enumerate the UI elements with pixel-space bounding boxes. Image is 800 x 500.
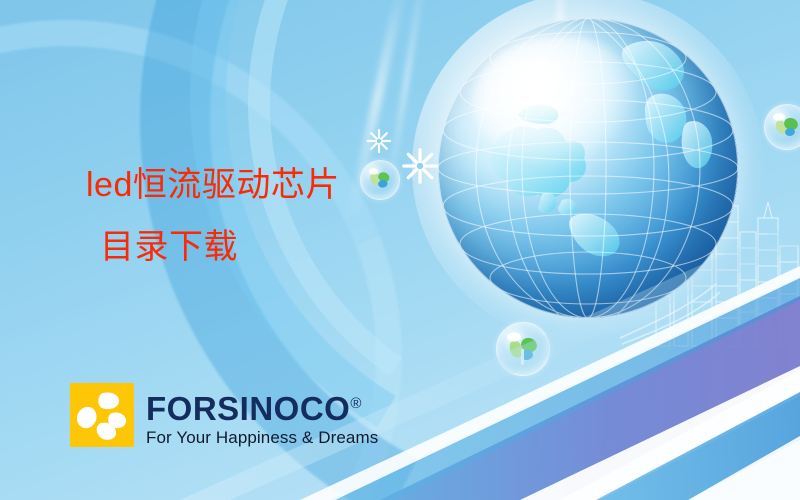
logo-text-block: FORSINOCO® For Your Happiness & Dreams xyxy=(146,383,378,448)
registered-trademark-icon: ® xyxy=(350,395,361,412)
company-logo: FORSINOCO® For Your Happiness & Dreams xyxy=(70,383,378,448)
wordmark-text: FORSINOCO xyxy=(146,390,350,427)
bubble-pinwheel-right-edge xyxy=(764,104,800,150)
four-petal-pinwheel-icon xyxy=(70,383,134,447)
promo-banner: led恒流驱动芯片 目录下载 FORSINOCO® For Your Happi… xyxy=(0,0,800,500)
starburst-small xyxy=(366,128,392,154)
logo-tagline: For Your Happiness & Dreams xyxy=(146,428,378,448)
headline-line-2: 目录下载 xyxy=(86,225,426,269)
logo-wordmark: FORSINOCO® xyxy=(146,387,378,426)
headline-line-1: led恒流驱动芯片 xyxy=(86,163,426,207)
headline: led恒流驱动芯片 目录下载 xyxy=(86,163,426,269)
